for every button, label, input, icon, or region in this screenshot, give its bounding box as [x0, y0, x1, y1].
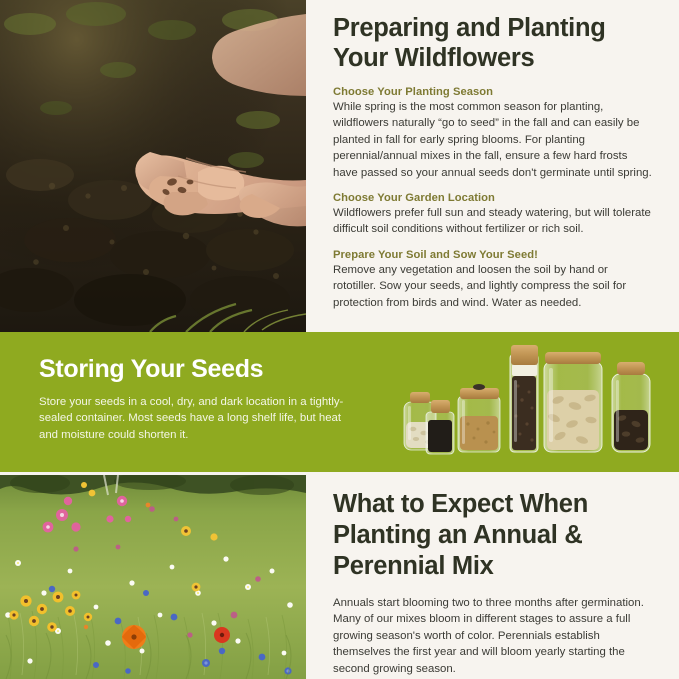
green-section-heading: Storing Your Seeds [39, 355, 344, 384]
subheading-garden-location: Choose Your Garden Location [333, 192, 652, 204]
subheading-planting-season: Choose Your Planting Season [333, 86, 652, 98]
subheading-prepare-soil: Prepare Your Soil and Sow Your Seed! [333, 249, 652, 261]
top-section-heading: Preparing and Planting Your Wildflowers [333, 13, 652, 73]
bottom-section-body: Annuals start blooming two to three mont… [333, 595, 652, 677]
hands-planting-seeds-image [0, 0, 306, 332]
wildflower-meadow-image [0, 475, 306, 679]
green-band-text: Storing Your Seeds Store your seeds in a… [39, 355, 344, 443]
body-prepare-soil: Remove any vegetation and loosen the soi… [333, 262, 652, 311]
storing-your-seeds-section: Storing Your Seeds Store your seeds in a… [0, 332, 679, 472]
preparing-and-planting-section: Preparing and Planting Your Wildflowers … [306, 0, 679, 332]
bottom-section-heading: What to Expect When Planting an Annual &… [333, 489, 652, 582]
body-planting-season: While spring is the most common season f… [333, 99, 652, 181]
what-to-expect-section: What to Expect When Planting an Annual &… [306, 475, 679, 679]
infographic-page: Preparing and Planting Your Wildflowers … [0, 0, 679, 679]
seed-jars-image [386, 334, 666, 470]
green-section-body: Store your seeds in a cool, dry, and dar… [39, 394, 344, 443]
body-garden-location: Wildflowers prefer full sun and steady w… [333, 205, 652, 238]
